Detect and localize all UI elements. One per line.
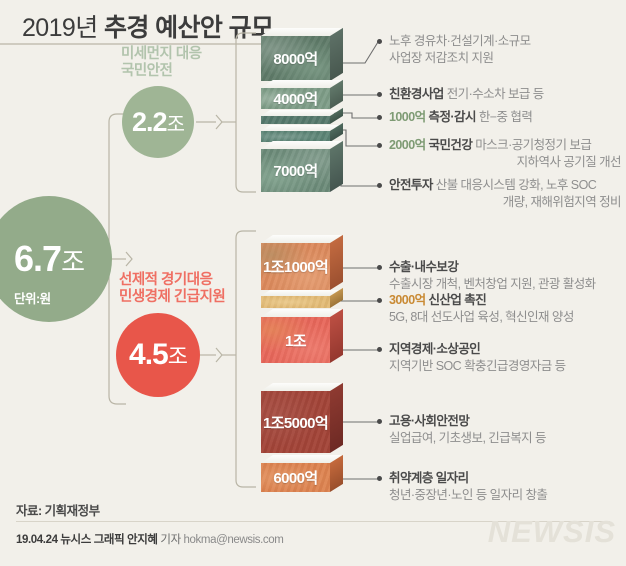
bar-amount-label: 7000억 [273, 160, 317, 181]
bar-front-face: 1조5000억 [261, 391, 330, 453]
credit-role: 기자 [160, 534, 183, 546]
page-title-main: 추경 예산안 규모 [104, 14, 274, 42]
callout-head: 측정·감시 [429, 110, 476, 124]
bar-row: 4000억 [261, 88, 330, 109]
bullet-dot [377, 419, 382, 424]
callout-amount: 2000억 [389, 138, 426, 152]
bar-front-face: 8000억 [261, 36, 330, 81]
bar-row: 1조1000억 [261, 243, 330, 290]
callout-environment-1: 노후 경유차·건설기계·소규모 사업장 저감조치 지원 [389, 33, 621, 66]
bar-amount-label: 8000억 [273, 48, 317, 69]
bar-amount-label: 1조 [285, 330, 306, 351]
bullet-dot [377, 115, 382, 120]
bullet-dot [377, 183, 382, 188]
page-title: 2019년 추경 예산안 규모 [22, 8, 273, 44]
bar-side-face [330, 309, 343, 363]
callout-economy-4: 고용·사회안전망 실업급여, 기초생보, 긴급복지 등 [389, 413, 625, 446]
bar-side-face [330, 235, 343, 290]
bar-front-face: 1조 [261, 317, 330, 363]
callout-head: 지역경제·소상공인 [389, 342, 480, 356]
group-caption-line2: 민생경제 긴급지원 [119, 289, 225, 305]
credit-author: 뉴시스 그래픽 안지혜 [60, 534, 160, 546]
callout-body-line1: 산불 대응시스템 강화, 노후 SOC [433, 178, 596, 192]
bullet-dot [377, 92, 382, 97]
grand-total-value: 6.7 [14, 238, 61, 279]
banknote-texture [261, 296, 330, 308]
callout-amount: 3000억 [389, 293, 426, 307]
bar-side-face [330, 141, 343, 192]
callout-body-line1: 전기·수소차 보급 등 [444, 87, 544, 101]
callout-body-line1: 청년·중장년·노인 등 일자리 창출 [389, 488, 547, 502]
bar-side-face [330, 28, 343, 81]
callout-body-line1: 지역기반 SOC 확충긴급경영자금 등 [389, 359, 566, 373]
callout-body-line1: 노후 경유차·건설기계·소규모 [389, 34, 531, 48]
callout-head: 고용·사회안전망 [389, 414, 469, 428]
bullet-dot [377, 298, 382, 303]
bar-row [261, 296, 330, 308]
callout-economy-3: 지역경제·소상공인 지역기반 SOC 확충긴급경영자금 등 [389, 341, 625, 374]
group-total-circle-environment: 2.2조 [122, 86, 194, 158]
infographic-canvas: 2019년 추경 예산안 규모 [0, 0, 626, 566]
callout-body-line1: 마스크·공기청정기 보급 [472, 138, 591, 152]
group-caption-line1: 미세먼지 대응 [121, 46, 202, 62]
bar-front-face: 6000억 [261, 463, 330, 492]
callout-economy-1: 수출·내수보강 수출시장 개척, 벤처창업 지원, 관광 활성화 [389, 259, 625, 292]
credit-date: 19.04.24 [16, 534, 60, 546]
callout-body-line1: 한−중 협력 [476, 110, 532, 124]
bar-front-face: 4000억 [261, 88, 330, 109]
bar-amount-label: 6000억 [273, 467, 317, 488]
callout-head: 수출·내수보강 [389, 260, 458, 274]
bullet-dot [377, 476, 382, 481]
newsis-watermark: NEWSIS [488, 514, 616, 550]
bullet-dot [377, 143, 382, 148]
bar-front-face: 7000억 [261, 149, 330, 192]
callout-head: 신산업 촉진 [429, 293, 487, 307]
bar-row: 8000억 [261, 36, 330, 81]
bar-amount-label: 1조1000억 [263, 256, 328, 277]
bar-side-face [330, 455, 343, 492]
bar-amount-label: 4000억 [273, 88, 317, 109]
bar-row: 7000억 [261, 149, 330, 192]
bar-row [261, 116, 330, 124]
group-total-unit-environment: 조 [167, 114, 184, 136]
bar-row: 1조5000억 [261, 391, 330, 453]
source-label: 자료: 기획재정부 [16, 500, 100, 519]
bar-front-face [261, 116, 330, 124]
group-total-circle-economy: 4.5조 [116, 313, 200, 397]
bar-row: 1조 [261, 317, 330, 363]
callout-economy-5: 취약계층 일자리 청년·중장년·노인 등 일자리 창출 [389, 470, 625, 503]
callout-head: 취약계층 일자리 [389, 471, 469, 485]
group-total-value-economy: 4.5 [129, 338, 168, 371]
callout-amount: 1000억 [389, 110, 426, 124]
callout-head: 국민건강 [429, 138, 473, 152]
group-caption-line2: 국민안전 [121, 63, 172, 79]
page-title-year: 2019년 [22, 14, 104, 42]
credit-line: 19.04.24 뉴시스 그래픽 안지혜 기자 hokma@newsis.com [16, 531, 283, 547]
callout-body-line2: 사업장 저감조치 지원 [389, 51, 493, 65]
group-total-value-environment: 2.2 [132, 107, 167, 137]
group-caption-environment: 미세먼지 대응 국민안전 [121, 46, 202, 80]
bullet-dot [377, 347, 382, 352]
callout-body-line1: 실업급여, 기초생보, 긴급복지 등 [389, 431, 546, 445]
callout-environment-2: 친환경사업 전기·수소차 보급 등 [389, 86, 621, 103]
bar-front-face [261, 296, 330, 308]
bar-front-face: 1조1000억 [261, 243, 330, 290]
bullet-dot [377, 265, 382, 270]
group-caption-line1: 선제적 경기대응 [119, 272, 212, 288]
title-divider [0, 43, 287, 45]
callout-economy-2: 3000억 신산업 촉진 5G, 8대 선도사업 육성, 혁신인재 양성 [389, 292, 625, 325]
callout-head: 친환경사업 [389, 87, 444, 101]
callout-body-line1: 수출시장 개척, 벤처창업 지원, 관광 활성화 [389, 277, 596, 291]
callout-body-line2: 개량, 재해위험지역 정비 [389, 194, 621, 211]
callout-head: 안전투자 [389, 178, 433, 192]
callout-environment-4: 2000억 국민건강 마스크·공기청정기 보급 지하역사 공기질 개선 [389, 137, 621, 170]
bar-side-face [330, 383, 343, 453]
callout-body-line1: 5G, 8대 선도사업 육성, 혁신인재 양성 [389, 310, 574, 324]
bullet-dot [377, 39, 382, 44]
callout-environment-3: 1000억 측정·감시 한−중 협력 [389, 109, 621, 126]
callout-environment-5: 안전투자 산불 대응시스템 강화, 노후 SOC 개량, 재해위험지역 정비 [389, 177, 621, 210]
credit-email: hokma@newsis.com [184, 534, 284, 546]
callout-body-line2: 지하역사 공기질 개선 [389, 154, 621, 171]
grand-total-unit: 조 [61, 247, 84, 277]
group-caption-economy: 선제적 경기대응 민생경제 긴급지원 [119, 272, 225, 306]
bar-row: 6000억 [261, 463, 330, 492]
group-total-unit-economy: 조 [168, 344, 187, 369]
banknote-texture [261, 116, 330, 124]
unit-note: 단위:원 [14, 288, 51, 307]
bar-amount-label: 1조5000억 [263, 412, 328, 433]
